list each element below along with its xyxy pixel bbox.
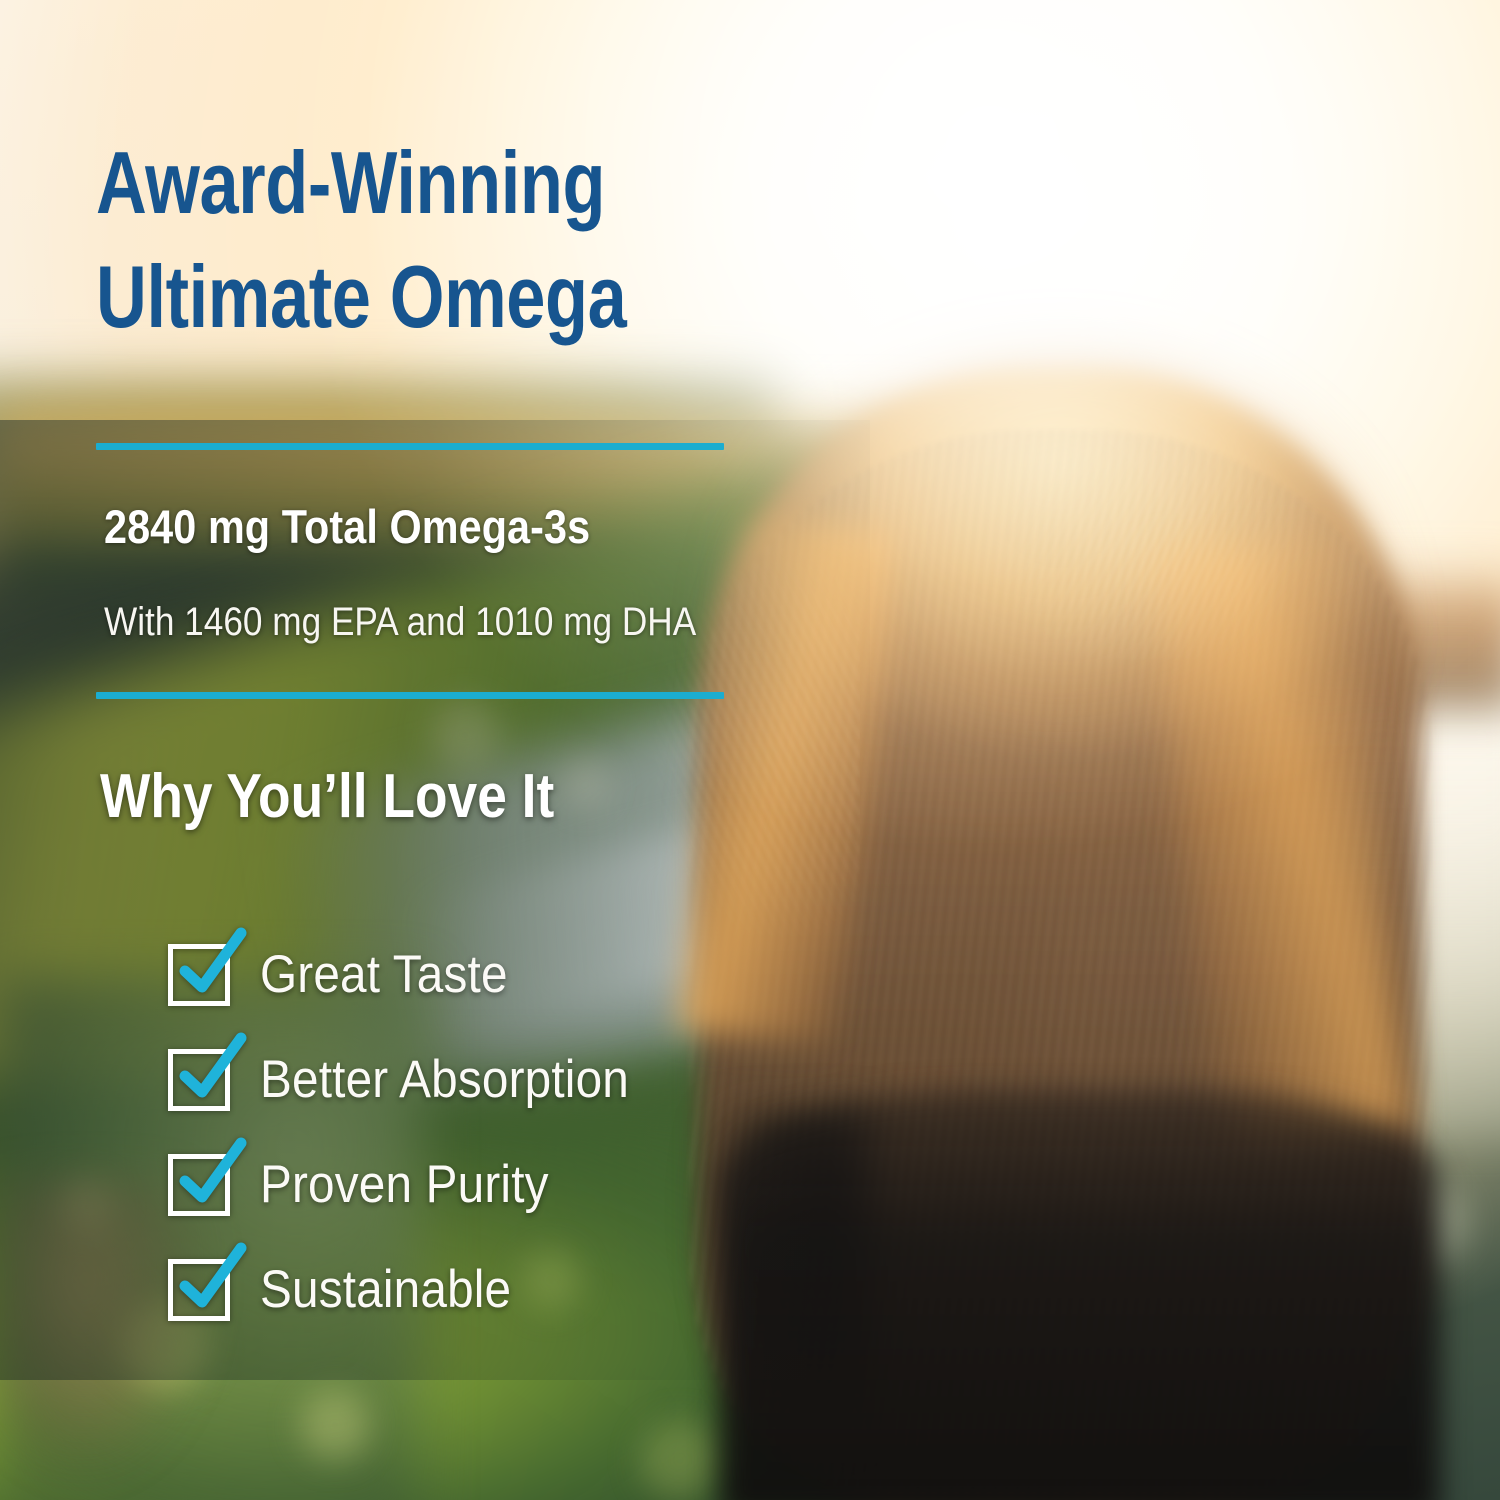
benefits-list: Great Taste Better Absorption Proven Pur… bbox=[168, 922, 868, 1342]
list-item-label: Great Taste bbox=[260, 948, 508, 1001]
list-item: Sustainable bbox=[168, 1237, 868, 1342]
benefits-section-title: Why You’ll Love It bbox=[100, 766, 554, 828]
checkbox-checked-icon bbox=[168, 1259, 230, 1321]
checkbox-checked-icon bbox=[168, 1049, 230, 1111]
divider-rule-bottom bbox=[96, 692, 724, 699]
list-item: Proven Purity bbox=[168, 1132, 868, 1237]
list-item-label: Proven Purity bbox=[260, 1158, 549, 1211]
divider-rule-top bbox=[96, 443, 724, 450]
list-item: Great Taste bbox=[168, 922, 868, 1027]
total-omega-value: 2840 mg Total Omega-3s bbox=[104, 502, 738, 551]
epa-dha-breakdown: With 1460 mg EPA and 1010 mg DHA bbox=[104, 600, 773, 644]
headline: Award-Winning Ultimate Omega bbox=[96, 126, 704, 355]
list-item-label: Sustainable bbox=[260, 1263, 511, 1316]
product-banner: Award-Winning Ultimate Omega 2840 mg Tot… bbox=[0, 0, 1500, 1500]
headline-line-1: Award-Winning bbox=[96, 126, 704, 240]
list-item: Better Absorption bbox=[168, 1027, 868, 1132]
checkbox-checked-icon bbox=[168, 944, 230, 1006]
list-item-label: Better Absorption bbox=[260, 1053, 629, 1106]
checkbox-checked-icon bbox=[168, 1154, 230, 1216]
overlay-content: Award-Winning Ultimate Omega 2840 mg Tot… bbox=[0, 0, 1500, 1500]
headline-line-2: Ultimate Omega bbox=[96, 240, 704, 354]
